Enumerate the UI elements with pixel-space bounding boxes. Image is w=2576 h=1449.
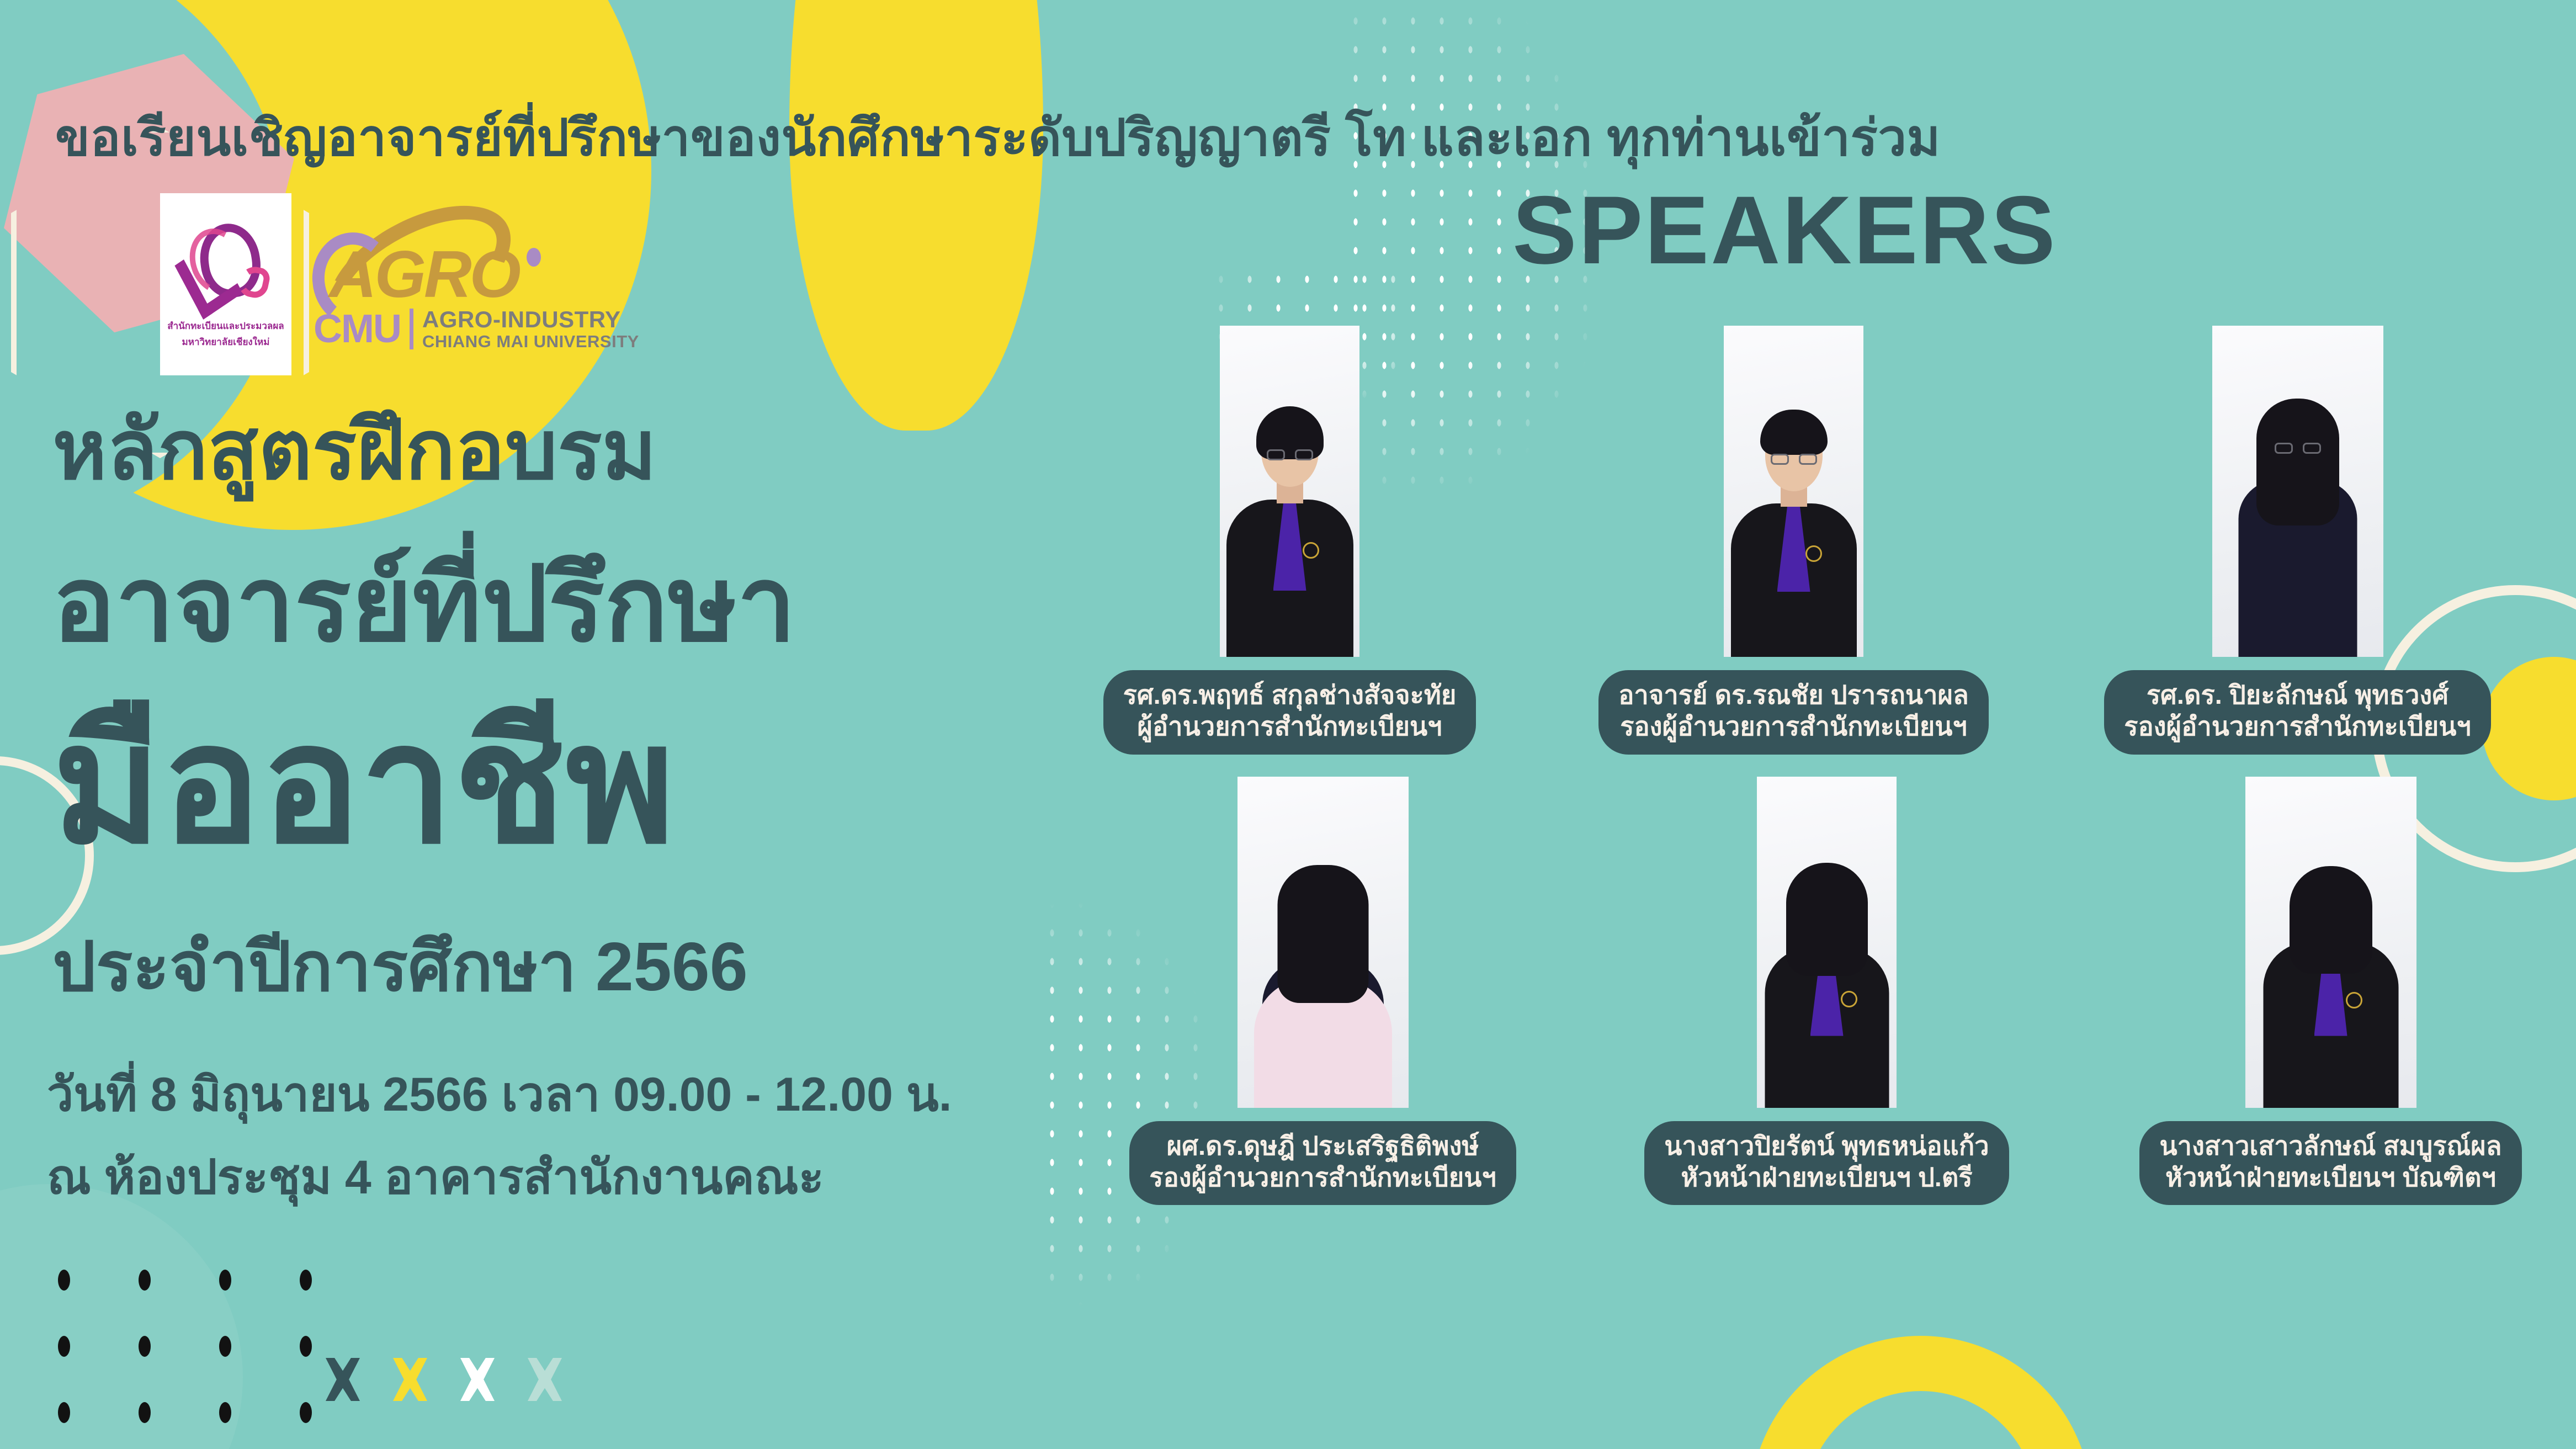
title-kicker: หลักสูตรฝึกอบรม (52, 408, 657, 491)
speaker-name-badge: ผศ.ดร.ดุษฎี ประเสริฐธิติพงษ์ รองผู้อำนวย… (1129, 1121, 1516, 1206)
speaker-card: รศ.ดร.พฤทธ์ สกุลช่างสัจจะทัย ผู้อำนวยการ… (1038, 326, 1542, 755)
speaker-name: ผศ.ดร.ดุษฎี ประเสริฐธิติพงษ์ (1167, 1131, 1479, 1160)
speakers-row-bottom: ผศ.ดร.ดุษฎี ประเสริฐธิติพงษ์ รองผู้อำนวย… (1038, 777, 2550, 1206)
yellow-blob-decoration (789, 0, 1043, 431)
agro-sub-line2: CHIANG MAI UNIVERSITY (422, 332, 639, 352)
agro-dot-icon (527, 248, 541, 267)
speaker-name: นางสาวปิยรัตน์ พุทธหน่อแก้ว (1664, 1131, 1989, 1160)
x-mark-icon-white (460, 1358, 495, 1401)
title-line-2: มืออาชีพ (52, 701, 675, 867)
speaker-role: รองผู้อำนวยการสำนักทะเบียนฯ (1618, 710, 1969, 742)
event-venue: ณ ห้องประชุม 4 อาคารสำนักงานคณะ (47, 1154, 824, 1201)
speaker-photo (1220, 326, 1359, 657)
x-mark-icon-dark (326, 1358, 360, 1401)
x-marks-decoration (326, 1358, 562, 1401)
invitation-line: ขอเรียนเชิญอาจารย์ที่ปรึกษาของนักศึกษาระ… (55, 97, 1941, 178)
speaker-role: รองผู้อำนวยการสำนักทะเบียนฯ (1149, 1161, 1496, 1193)
event-datetime: วันที่ 8 มิถุนายน 2566 เวลา 09.00 - 12.0… (47, 1071, 952, 1118)
registrar-logo: สำนักทะเบียนและประมวลผล มหาวิทยาลัยเชียง… (160, 193, 291, 375)
speaker-name: อาจารย์ ดร.รณชัย ปรารถนาผล (1618, 680, 1969, 709)
registrar-logo-mark (182, 220, 270, 317)
title-line-1: อาจารย์ที่ปรึกษา (52, 552, 796, 657)
speaker-card: นางสาวปิยรัตน์ พุทธหน่อแก้ว หัวหน้าฝ่ายท… (1575, 777, 2079, 1206)
speaker-name-badge: นางสาวเสาวลักษณ์ สมบูรณ์ผล หัวหน้าฝ่ายทะ… (2139, 1121, 2521, 1206)
speaker-role: รองผู้อำนวยการสำนักทะเบียนฯ (2124, 710, 2471, 742)
yellow-ring-decoration (1750, 1336, 2092, 1449)
speakers-grid: รศ.ดร.พฤทธ์ สกุลช่างสัจจะทัย ผู้อำนวยการ… (1038, 326, 2550, 1205)
event-poster: ขอเรียนเชิญอาจารย์ที่ปรึกษาของนักศึกษาระ… (0, 0, 2576, 1449)
speaker-role: หัวหน้าฝ่ายทะเบียนฯ บัณฑิตฯ (2159, 1161, 2501, 1193)
speakers-row-top: รศ.ดร.พฤทธ์ สกุลช่างสัจจะทัย ผู้อำนวยการ… (1038, 326, 2550, 755)
x-mark-icon-yellow (393, 1358, 427, 1401)
speaker-name-badge: รศ.ดร. ปิยะลักษณ์ พุทธวงศ์ รองผู้อำนวยกา… (2104, 670, 2491, 755)
speaker-name-badge: นางสาวปิยรัตน์ พุทธหน่อแก้ว หัวหน้าฝ่ายท… (1644, 1121, 2009, 1206)
speaker-photo (1237, 777, 1409, 1108)
speaker-role: หัวหน้าฝ่ายทะเบียนฯ ป.ตรี (1664, 1161, 1989, 1193)
speaker-photo (1724, 326, 1863, 657)
x-mark-icon-light-teal (528, 1358, 562, 1401)
speaker-photo (1757, 777, 1897, 1108)
agro-wordmark: AGRO (329, 241, 519, 307)
speakers-heading: SPEAKERS (1512, 182, 2057, 279)
dot-grid-decoration (58, 1270, 312, 1449)
speaker-card: นางสาวเสาวลักษณ์ สมบูรณ์ผล หัวหน้าฝ่ายทะ… (2079, 777, 2576, 1206)
speaker-photo (2212, 326, 2383, 657)
registrar-logo-line2: มหาวิทยาลัยเชียงใหม่ (182, 336, 270, 349)
registrar-logo-line1: สำนักทะเบียนและประมวลผล (167, 320, 284, 333)
speaker-name: รศ.ดร.พฤทธ์ สกุลช่างสัจจะทัย (1123, 680, 1457, 709)
speaker-role: ผู้อำนวยการสำนักทะเบียนฯ (1123, 710, 1457, 742)
logo-row: สำนักทะเบียนและประมวลผล มหาวิทยาลัยเชียง… (160, 193, 639, 375)
speaker-name-badge: รศ.ดร.พฤทธ์ สกุลช่างสัจจะทัย ผู้อำนวยการ… (1103, 670, 1476, 755)
speaker-name: รศ.ดร. ปิยะลักษณ์ พุทธวงศ์ (2147, 680, 2448, 709)
speaker-name: นางสาวเสาวลักษณ์ สมบูรณ์ผล (2159, 1131, 2501, 1160)
speaker-photo (2245, 777, 2416, 1108)
academic-year: ประจำปีการศึกษา 2566 (52, 933, 748, 1001)
speaker-card: อาจารย์ ดร.รณชัย ปรารถนาผล รองผู้อำนวยกา… (1542, 326, 2046, 755)
speaker-card: รศ.ดร. ปิยะลักษณ์ พุทธวงศ์ รองผู้อำนวยกา… (2046, 326, 2550, 755)
agro-cmu-logo: AGRO CMU AGRO-INDUSTRY CHIANG MAI UNIVER… (310, 217, 639, 352)
agro-wordmark-block: AGRO (310, 217, 553, 310)
speaker-name-badge: อาจารย์ ดร.รณชัย ปรารถนาผล รองผู้อำนวยกา… (1598, 670, 1989, 755)
speaker-card: ผศ.ดร.ดุษฎี ประเสริฐธิติพงษ์ รองผู้อำนวย… (1071, 777, 1575, 1206)
